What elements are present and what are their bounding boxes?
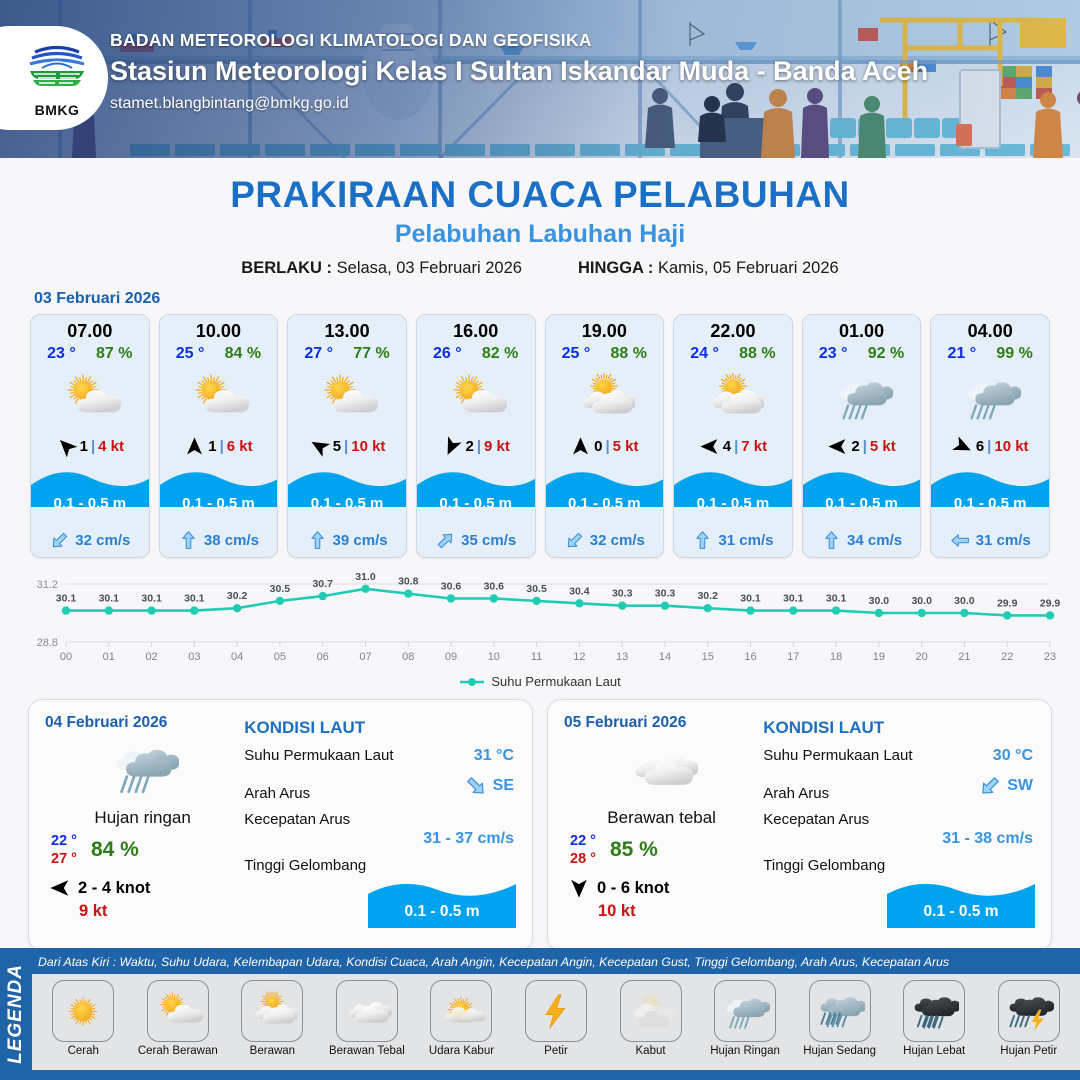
- card-wave-height: 0.1 - 0.5 m: [803, 495, 921, 512]
- card-wind-separator: |: [477, 438, 481, 455]
- card-humidity: 87 %: [96, 345, 132, 363]
- svg-text:30.5: 30.5: [526, 583, 547, 595]
- legend-chip: [714, 980, 776, 1042]
- berawan-icon: [702, 373, 764, 424]
- legend-item: Cerah: [36, 980, 131, 1070]
- panel-current-speed-row: Kecepatan Arus: [763, 811, 1033, 828]
- panel-current-speed-value-row: 31 - 38 cm/s: [763, 830, 1033, 848]
- svg-text:16: 16: [744, 651, 756, 663]
- card-weather-icon: [674, 365, 792, 431]
- card-wind-speed: 4: [723, 438, 731, 455]
- panel-sst-row: Suhu Permukaan Laut 30 °C: [763, 747, 1033, 765]
- card-wind-speed: 2: [851, 438, 859, 455]
- card-wave-block: 0.1 - 0.5 m: [288, 461, 406, 523]
- svg-text:13: 13: [616, 651, 628, 663]
- wave-shape-icon: [417, 461, 536, 523]
- svg-text:30.1: 30.1: [56, 593, 77, 605]
- legend-item: Hujan Sedang: [792, 980, 887, 1070]
- svg-text:29.9: 29.9: [997, 597, 1018, 609]
- card-wave-height: 0.1 - 0.5 m: [160, 495, 278, 512]
- panel-sea-title: KONDISI LAUT: [763, 718, 1033, 738]
- berawan-tebal-icon: [342, 991, 392, 1032]
- wind-direction-arrow-icon: [699, 436, 720, 457]
- legend-chip: [147, 980, 209, 1042]
- svg-text:03: 03: [188, 651, 200, 663]
- forecast-card[interactable]: 19.00 25 ° 88 % 0 | 5 kt: [545, 314, 665, 558]
- wave-shape-icon: [674, 461, 793, 523]
- svg-text:31.0: 31.0: [355, 571, 376, 583]
- legend-item-label: Hujan Petir: [1000, 1045, 1057, 1057]
- panel-current-dir-value: SE: [493, 777, 514, 795]
- card-current-speed: 32 cm/s: [590, 532, 645, 549]
- panel-left: 05 Februari 2026 Berawan tebal 22 ° 28 °: [548, 700, 759, 950]
- wind-direction-arrow-icon: [49, 877, 71, 899]
- svg-text:15: 15: [702, 651, 714, 663]
- card-wave-height: 0.1 - 0.5 m: [417, 495, 535, 512]
- card-current-block: 32 cm/s: [31, 523, 149, 557]
- current-direction-arrow-icon: [821, 530, 842, 551]
- wind-direction-arrow-icon: [305, 432, 334, 461]
- current-direction-arrow-icon: [973, 769, 1007, 803]
- legend-item: Berawan Tebal: [320, 980, 415, 1070]
- card-weather-icon: [803, 365, 921, 431]
- card-humidity: 88 %: [611, 345, 647, 363]
- chart-legend-marker-icon: [459, 677, 485, 687]
- page-header: BMKG BADAN METEOROLOGI KLIMATOLOGI DAN G…: [0, 0, 1080, 158]
- card-temperature: 24 °: [690, 345, 719, 363]
- card-current-speed: 39 cm/s: [333, 532, 388, 549]
- card-current-speed: 38 cm/s: [204, 532, 259, 549]
- card-wave-block: 0.1 - 0.5 m: [546, 461, 664, 523]
- card-wind-separator: |: [734, 438, 738, 455]
- svg-text:30.2: 30.2: [227, 590, 248, 602]
- hujan-ringan-icon: [107, 739, 179, 798]
- card-temperature: 23 °: [819, 345, 848, 363]
- panel-humidity: 84 %: [91, 838, 139, 862]
- card-current-speed: 31 cm/s: [718, 532, 773, 549]
- card-current-block: 35 cm/s: [417, 523, 535, 557]
- wave-shape-icon: [803, 461, 922, 523]
- valid-from-label: BERLAKU :: [241, 259, 332, 277]
- card-wave-height: 0.1 - 0.5 m: [288, 495, 406, 512]
- station-name: Stasiun Meteorologi Kelas I Sultan Iskan…: [110, 56, 928, 87]
- card-gust: 5 kt: [613, 438, 639, 455]
- hujan-lebat-icon: [909, 991, 959, 1032]
- card-temperature: 23 °: [47, 345, 76, 363]
- panel-wave-value: 0.1 - 0.5 m: [887, 903, 1035, 921]
- legend-item-label: Hujan Lebat: [903, 1045, 965, 1057]
- legend-chip: [52, 980, 114, 1042]
- svg-text:22: 22: [1001, 651, 1013, 663]
- cerah-berawan-icon: [187, 373, 249, 424]
- wind-direction-arrow-icon: [568, 877, 590, 899]
- panel-right: KONDISI LAUT Suhu Permukaan Laut 31 °C A…: [240, 700, 532, 950]
- panel-current-dir-row: Arah Arus SW: [763, 774, 1033, 802]
- svg-text:18: 18: [830, 651, 842, 663]
- forecast-card[interactable]: 01.00 23 ° 92 % 2 | 5 kt: [802, 314, 922, 558]
- wave-shape-icon: [31, 461, 150, 523]
- svg-text:30.0: 30.0: [869, 595, 890, 607]
- chart-legend-label: Suhu Permukaan Laut: [491, 674, 620, 689]
- svg-text:30.1: 30.1: [99, 593, 120, 605]
- panel-current-speed-row: Kecepatan Arus: [244, 811, 514, 828]
- wind-direction-arrow-icon: [948, 432, 976, 460]
- panel-current-speed-label: Kecepatan Arus: [763, 811, 869, 828]
- svg-text:30.8: 30.8: [398, 576, 419, 588]
- card-humidity: 92 %: [868, 345, 904, 363]
- svg-text:01: 01: [103, 651, 115, 663]
- valid-from-value: Selasa, 03 Februari 2026: [337, 259, 522, 277]
- panel-current-speed-value-row: 31 - 37 cm/s: [244, 830, 514, 848]
- panel-date: 04 Februari 2026: [45, 714, 240, 732]
- panel-gust: 9 kt: [45, 902, 240, 921]
- panel-wave-row: Tinggi Gelombang: [763, 857, 1033, 874]
- cerah-berawan-icon: [59, 373, 121, 424]
- hujan-ringan-icon: [831, 373, 893, 424]
- panel-right: KONDISI LAUT Suhu Permukaan Laut 30 °C A…: [759, 700, 1051, 950]
- panel-current-dir-value: SW: [1007, 777, 1033, 795]
- panel-sst-label: Suhu Permukaan Laut: [244, 747, 393, 764]
- wave-shape-icon: [546, 461, 665, 523]
- card-weather-icon: [931, 365, 1049, 431]
- forecast-card[interactable]: 04.00 21 ° 99 % 6 | 10 kt: [930, 314, 1050, 558]
- card-current-speed: 35 cm/s: [461, 532, 516, 549]
- legend-chip: [809, 980, 871, 1042]
- card-wave-block: 0.1 - 0.5 m: [31, 461, 149, 523]
- panel-weather-icon: [564, 734, 759, 804]
- card-humidity: 84 %: [225, 345, 261, 363]
- card-wave-block: 0.1 - 0.5 m: [931, 461, 1049, 523]
- card-gust: 6 kt: [227, 438, 253, 455]
- svg-text:19: 19: [873, 651, 885, 663]
- legend-chip: [430, 980, 492, 1042]
- panel-temp-min: 22 °: [51, 832, 77, 850]
- card-gust: 10 kt: [994, 438, 1028, 455]
- card-time: 07.00: [31, 315, 149, 342]
- svg-text:30.5: 30.5: [270, 583, 291, 595]
- legend-chip: [525, 980, 587, 1042]
- hujan-petir-icon: [1004, 991, 1054, 1032]
- svg-text:02: 02: [145, 651, 157, 663]
- svg-text:31.2: 31.2: [37, 579, 58, 591]
- title-section: PRAKIRAAN CUACA PELABUHAN Pelabuhan Labu…: [0, 158, 1080, 278]
- card-time: 13.00: [288, 315, 406, 342]
- forecast-card[interactable]: 07.00 23 ° 87 % 1 | 4 kt: [30, 314, 150, 558]
- forecast-card[interactable]: 16.00 26 ° 82 % 2 | 9 kt: [416, 314, 536, 558]
- card-wind-speed: 0: [594, 438, 602, 455]
- card-humidity: 82 %: [482, 345, 518, 363]
- legend-item: Berawan: [225, 980, 320, 1070]
- daily-forecast-panels: 04 Februari 2026 Hujan ringan 22 ° 27 °: [0, 689, 1080, 951]
- panel-humidity: 85 %: [610, 838, 658, 862]
- current-direction-arrow-icon: [431, 525, 461, 555]
- hujan-sedang-icon: [815, 991, 865, 1032]
- legend-chip: [620, 980, 682, 1042]
- wind-direction-arrow-icon: [438, 432, 466, 460]
- card-gust: 10 kt: [351, 438, 385, 455]
- panel-current-speed-value: 31 - 37 cm/s: [423, 830, 514, 848]
- legend-chip: [903, 980, 965, 1042]
- wave-shape-icon: [288, 461, 407, 523]
- wind-direction-arrow-icon: [184, 436, 205, 457]
- legend-note: Dari Atas Kiri : Waktu, Suhu Udara, Kele…: [32, 948, 1080, 974]
- legend-item-label: Petir: [544, 1045, 568, 1057]
- svg-text:29.9: 29.9: [1040, 597, 1061, 609]
- legend-chip: [241, 980, 303, 1042]
- hujan-ringan-icon: [959, 373, 1021, 424]
- card-wave-height: 0.1 - 0.5 m: [31, 495, 149, 512]
- card-wind-separator: |: [91, 438, 95, 455]
- legend-item-label: Berawan: [250, 1045, 295, 1057]
- svg-text:14: 14: [659, 651, 671, 663]
- panel-current-dir-row: Arah Arus SE: [244, 774, 514, 802]
- svg-text:30.6: 30.6: [484, 581, 505, 593]
- svg-text:11: 11: [531, 651, 542, 663]
- panel-sst-row: Suhu Permukaan Laut 31 °C: [244, 747, 514, 765]
- panel-condition: Berawan tebal: [564, 808, 759, 828]
- card-wave-height: 0.1 - 0.5 m: [674, 495, 792, 512]
- legend-item-label: Hujan Ringan: [710, 1045, 780, 1057]
- svg-text:30.3: 30.3: [612, 588, 633, 600]
- panel-temp-max: 28 °: [570, 850, 596, 868]
- panel-wave-label: Tinggi Gelombang: [763, 857, 885, 874]
- svg-text:30.2: 30.2: [697, 590, 718, 602]
- daily-forecast-panel[interactable]: 05 Februari 2026 Berawan tebal 22 ° 28 °: [547, 699, 1052, 951]
- cerah-icon: [58, 991, 108, 1032]
- card-weather-icon: [417, 365, 535, 431]
- card-wind-separator: |: [220, 438, 224, 455]
- card-wind-speed: 1: [208, 438, 216, 455]
- valid-to-value: Kamis, 05 Februari 2026: [658, 259, 839, 277]
- valid-from: BERLAKU : Selasa, 03 Februari 2026: [241, 259, 522, 278]
- legend-chip: [336, 980, 398, 1042]
- header-text-block: BADAN METEOROLOGI KLIMATOLOGI DAN GEOFIS…: [110, 30, 928, 113]
- current-direction-arrow-icon: [692, 530, 713, 551]
- current-direction-arrow-icon: [178, 530, 199, 551]
- panel-current-speed-value: 31 - 38 cm/s: [942, 830, 1033, 848]
- card-wind-separator: |: [987, 438, 991, 455]
- chart-legend: Suhu Permukaan Laut: [0, 674, 1080, 689]
- panel-current-dir-label: Arah Arus: [244, 785, 310, 802]
- card-wind-separator: |: [605, 438, 609, 455]
- panel-temps: 22 ° 28 ° 85 %: [564, 832, 759, 868]
- panel-wave-label: Tinggi Gelombang: [244, 857, 366, 874]
- wind-direction-arrow-icon: [827, 436, 848, 457]
- svg-text:30.1: 30.1: [740, 593, 761, 605]
- card-current-block: 38 cm/s: [160, 523, 278, 557]
- svg-text:30.0: 30.0: [954, 595, 975, 607]
- current-direction-arrow-icon: [307, 530, 328, 551]
- legend-item: Hujan Lebat: [887, 980, 982, 1070]
- forecast-card[interactable]: 13.00 27 ° 77 % 5 | 10 kt: [287, 314, 407, 558]
- kabut-icon: [626, 991, 676, 1032]
- svg-text:30.3: 30.3: [655, 588, 676, 600]
- svg-text:30.1: 30.1: [826, 593, 847, 605]
- wave-shape-icon: [160, 461, 279, 523]
- page-title: PRAKIRAAN CUACA PELABUHAN: [0, 174, 1080, 216]
- card-time: 04.00: [931, 315, 1049, 342]
- cerah-berawan-icon: [153, 991, 203, 1032]
- wind-direction-arrow-icon: [570, 436, 591, 457]
- card-temperature: 25 °: [562, 345, 591, 363]
- legend-item-label: Udara Kabur: [429, 1045, 494, 1057]
- berawan-icon: [573, 373, 635, 424]
- panel-sst-value: 30 °C: [993, 747, 1033, 765]
- card-current-block: 31 cm/s: [931, 523, 1049, 557]
- legend-item: Udara Kabur: [414, 980, 509, 1070]
- svg-text:05: 05: [274, 651, 286, 663]
- panel-gust: 10 kt: [564, 902, 759, 921]
- valid-to-label: HINGGA :: [578, 259, 653, 277]
- svg-text:17: 17: [787, 651, 799, 663]
- udara-kabur-icon: [436, 991, 486, 1032]
- legend-item-label: Cerah: [68, 1045, 99, 1057]
- svg-text:23: 23: [1044, 651, 1056, 663]
- legend-item-label: Cerah Berawan: [138, 1045, 218, 1057]
- card-current-speed: 34 cm/s: [847, 532, 902, 549]
- card-wave-block: 0.1 - 0.5 m: [674, 461, 792, 523]
- daily-forecast-panel[interactable]: 04 Februari 2026 Hujan ringan 22 ° 27 °: [28, 699, 533, 951]
- bmkg-logo: BMKG: [0, 26, 108, 130]
- svg-text:30.7: 30.7: [312, 578, 333, 590]
- card-weather-icon: [288, 365, 406, 431]
- card-wave-block: 0.1 - 0.5 m: [803, 461, 921, 523]
- forecast-card[interactable]: 22.00 24 ° 88 % 4 | 7 kt: [673, 314, 793, 558]
- card-gust: 5 kt: [870, 438, 896, 455]
- card-gust: 9 kt: [484, 438, 510, 455]
- card-current-block: 32 cm/s: [546, 523, 664, 557]
- panel-weather-icon: [45, 734, 240, 804]
- card-gust: 4 kt: [98, 438, 124, 455]
- svg-text:06: 06: [317, 651, 329, 663]
- svg-text:30.0: 30.0: [911, 595, 932, 607]
- svg-text:00: 00: [60, 651, 72, 663]
- card-humidity: 88 %: [739, 345, 775, 363]
- bmkg-emblem-icon: [26, 38, 88, 96]
- card-current-block: 31 cm/s: [674, 523, 792, 557]
- svg-text:30.1: 30.1: [783, 593, 804, 605]
- svg-text:04: 04: [231, 651, 243, 663]
- current-direction-arrow-icon: [45, 525, 75, 555]
- hujan-ringan-icon: [720, 991, 770, 1032]
- card-humidity: 77 %: [353, 345, 389, 363]
- card-humidity: 99 %: [996, 345, 1032, 363]
- card-current-block: 39 cm/s: [288, 523, 406, 557]
- hourly-forecast-cards: 07.00 23 ° 87 % 1 | 4 kt: [0, 314, 1080, 558]
- svg-text:10: 10: [488, 651, 500, 663]
- card-time: 10.00: [160, 315, 278, 342]
- panel-temp-max: 27 °: [51, 850, 77, 868]
- svg-text:20: 20: [916, 651, 928, 663]
- cerah-berawan-icon: [316, 373, 378, 424]
- legend-item-label: Kabut: [636, 1045, 666, 1057]
- svg-text:21: 21: [958, 651, 970, 663]
- card-time: 22.00: [674, 315, 792, 342]
- card-temperature: 26 °: [433, 345, 462, 363]
- card-wave-height: 0.1 - 0.5 m: [546, 495, 664, 512]
- panel-temp-min: 22 °: [570, 832, 596, 850]
- forecast-date-label: 03 Februari 2026: [34, 290, 1080, 308]
- panel-current-dir-label: Arah Arus: [763, 785, 829, 802]
- panel-wind: 2 - 4 knot: [45, 877, 240, 899]
- card-time: 01.00: [803, 315, 921, 342]
- legend-item-label: Berawan Tebal: [329, 1045, 405, 1057]
- card-wind-speed: 6: [976, 438, 984, 455]
- card-current-block: 34 cm/s: [803, 523, 921, 557]
- card-weather-icon: [160, 365, 278, 431]
- card-wind-separator: |: [863, 438, 867, 455]
- legend-side-strip: LEGENDA: [0, 948, 32, 1080]
- card-wind-separator: |: [344, 438, 348, 455]
- legend-bar: LEGENDA Dari Atas Kiri : Waktu, Suhu Uda…: [0, 948, 1080, 1080]
- station-email: stamet.blangbintang@bmkg.go.id: [110, 95, 928, 113]
- panel-wave-row: Tinggi Gelombang: [244, 857, 514, 874]
- panel-left: 04 Februari 2026 Hujan ringan 22 ° 27 °: [29, 700, 240, 950]
- sst-chart: 31.228.800010203040506070809101112131415…: [18, 568, 1062, 668]
- panel-temps: 22 ° 27 ° 84 %: [45, 832, 240, 868]
- legend-main: Dari Atas Kiri : Waktu, Suhu Udara, Kele…: [32, 948, 1080, 1080]
- card-weather-icon: [31, 365, 149, 431]
- card-current-speed: 31 cm/s: [976, 532, 1031, 549]
- card-time: 16.00: [417, 315, 535, 342]
- svg-text:28.8: 28.8: [37, 637, 58, 649]
- svg-text:30.4: 30.4: [569, 585, 590, 597]
- panel-sea-title: KONDISI LAUT: [244, 718, 514, 738]
- card-current-speed: 32 cm/s: [75, 532, 130, 549]
- svg-text:08: 08: [402, 651, 414, 663]
- current-direction-arrow-icon: [459, 769, 493, 803]
- panel-current-speed-label: Kecepatan Arus: [244, 811, 350, 828]
- cerah-berawan-icon: [445, 373, 507, 424]
- panel-sst-label: Suhu Permukaan Laut: [763, 747, 912, 764]
- valid-to: HINGGA : Kamis, 05 Februari 2026: [578, 259, 839, 278]
- panel-wave-value: 0.1 - 0.5 m: [368, 903, 516, 921]
- wind-direction-arrow-icon: [51, 431, 81, 461]
- legend-chip: [998, 980, 1060, 1042]
- svg-text:07: 07: [359, 651, 371, 663]
- panel-wave-block: 0.1 - 0.5 m: [887, 878, 1035, 928]
- agency-name: BADAN METEOROLOGI KLIMATOLOGI DAN GEOFIS…: [110, 30, 928, 51]
- svg-text:30.6: 30.6: [441, 581, 462, 593]
- panel-date: 05 Februari 2026: [564, 714, 759, 732]
- svg-text:30.1: 30.1: [184, 593, 205, 605]
- svg-text:09: 09: [445, 651, 457, 663]
- validity-row: BERLAKU : Selasa, 03 Februari 2026 HINGG…: [0, 259, 1080, 278]
- svg-text:12: 12: [573, 651, 585, 663]
- card-wave-height: 0.1 - 0.5 m: [931, 495, 1049, 512]
- page-subtitle: Pelabuhan Labuhan Haji: [0, 220, 1080, 249]
- card-gust: 7 kt: [741, 438, 767, 455]
- legend-item: Petir: [509, 980, 604, 1070]
- legend-item-label: Hujan Sedang: [803, 1045, 876, 1057]
- card-wave-block: 0.1 - 0.5 m: [417, 461, 535, 523]
- legend-item: Hujan Petir: [981, 980, 1076, 1070]
- legend-icon-list: Cerah Cerah Berawan: [32, 974, 1080, 1070]
- sst-chart-svg: 31.228.800010203040506070809101112131415…: [18, 568, 1062, 668]
- legend-item: Hujan Ringan: [698, 980, 793, 1070]
- berawan-tebal-icon: [626, 739, 698, 798]
- legend-item: Cerah Berawan: [131, 980, 226, 1070]
- card-temperature: 25 °: [176, 345, 205, 363]
- legend-item: Kabut: [603, 980, 698, 1070]
- wave-shape-icon: [931, 461, 1050, 523]
- legend-side-label: LEGENDA: [5, 964, 27, 1064]
- panel-condition: Hujan ringan: [45, 808, 240, 828]
- card-weather-icon: [546, 365, 664, 431]
- current-direction-arrow-icon: [559, 525, 589, 555]
- forecast-card[interactable]: 10.00 25 ° 84 % 1 | 6 kt: [159, 314, 279, 558]
- bmkg-logo-text: BMKG: [22, 102, 92, 118]
